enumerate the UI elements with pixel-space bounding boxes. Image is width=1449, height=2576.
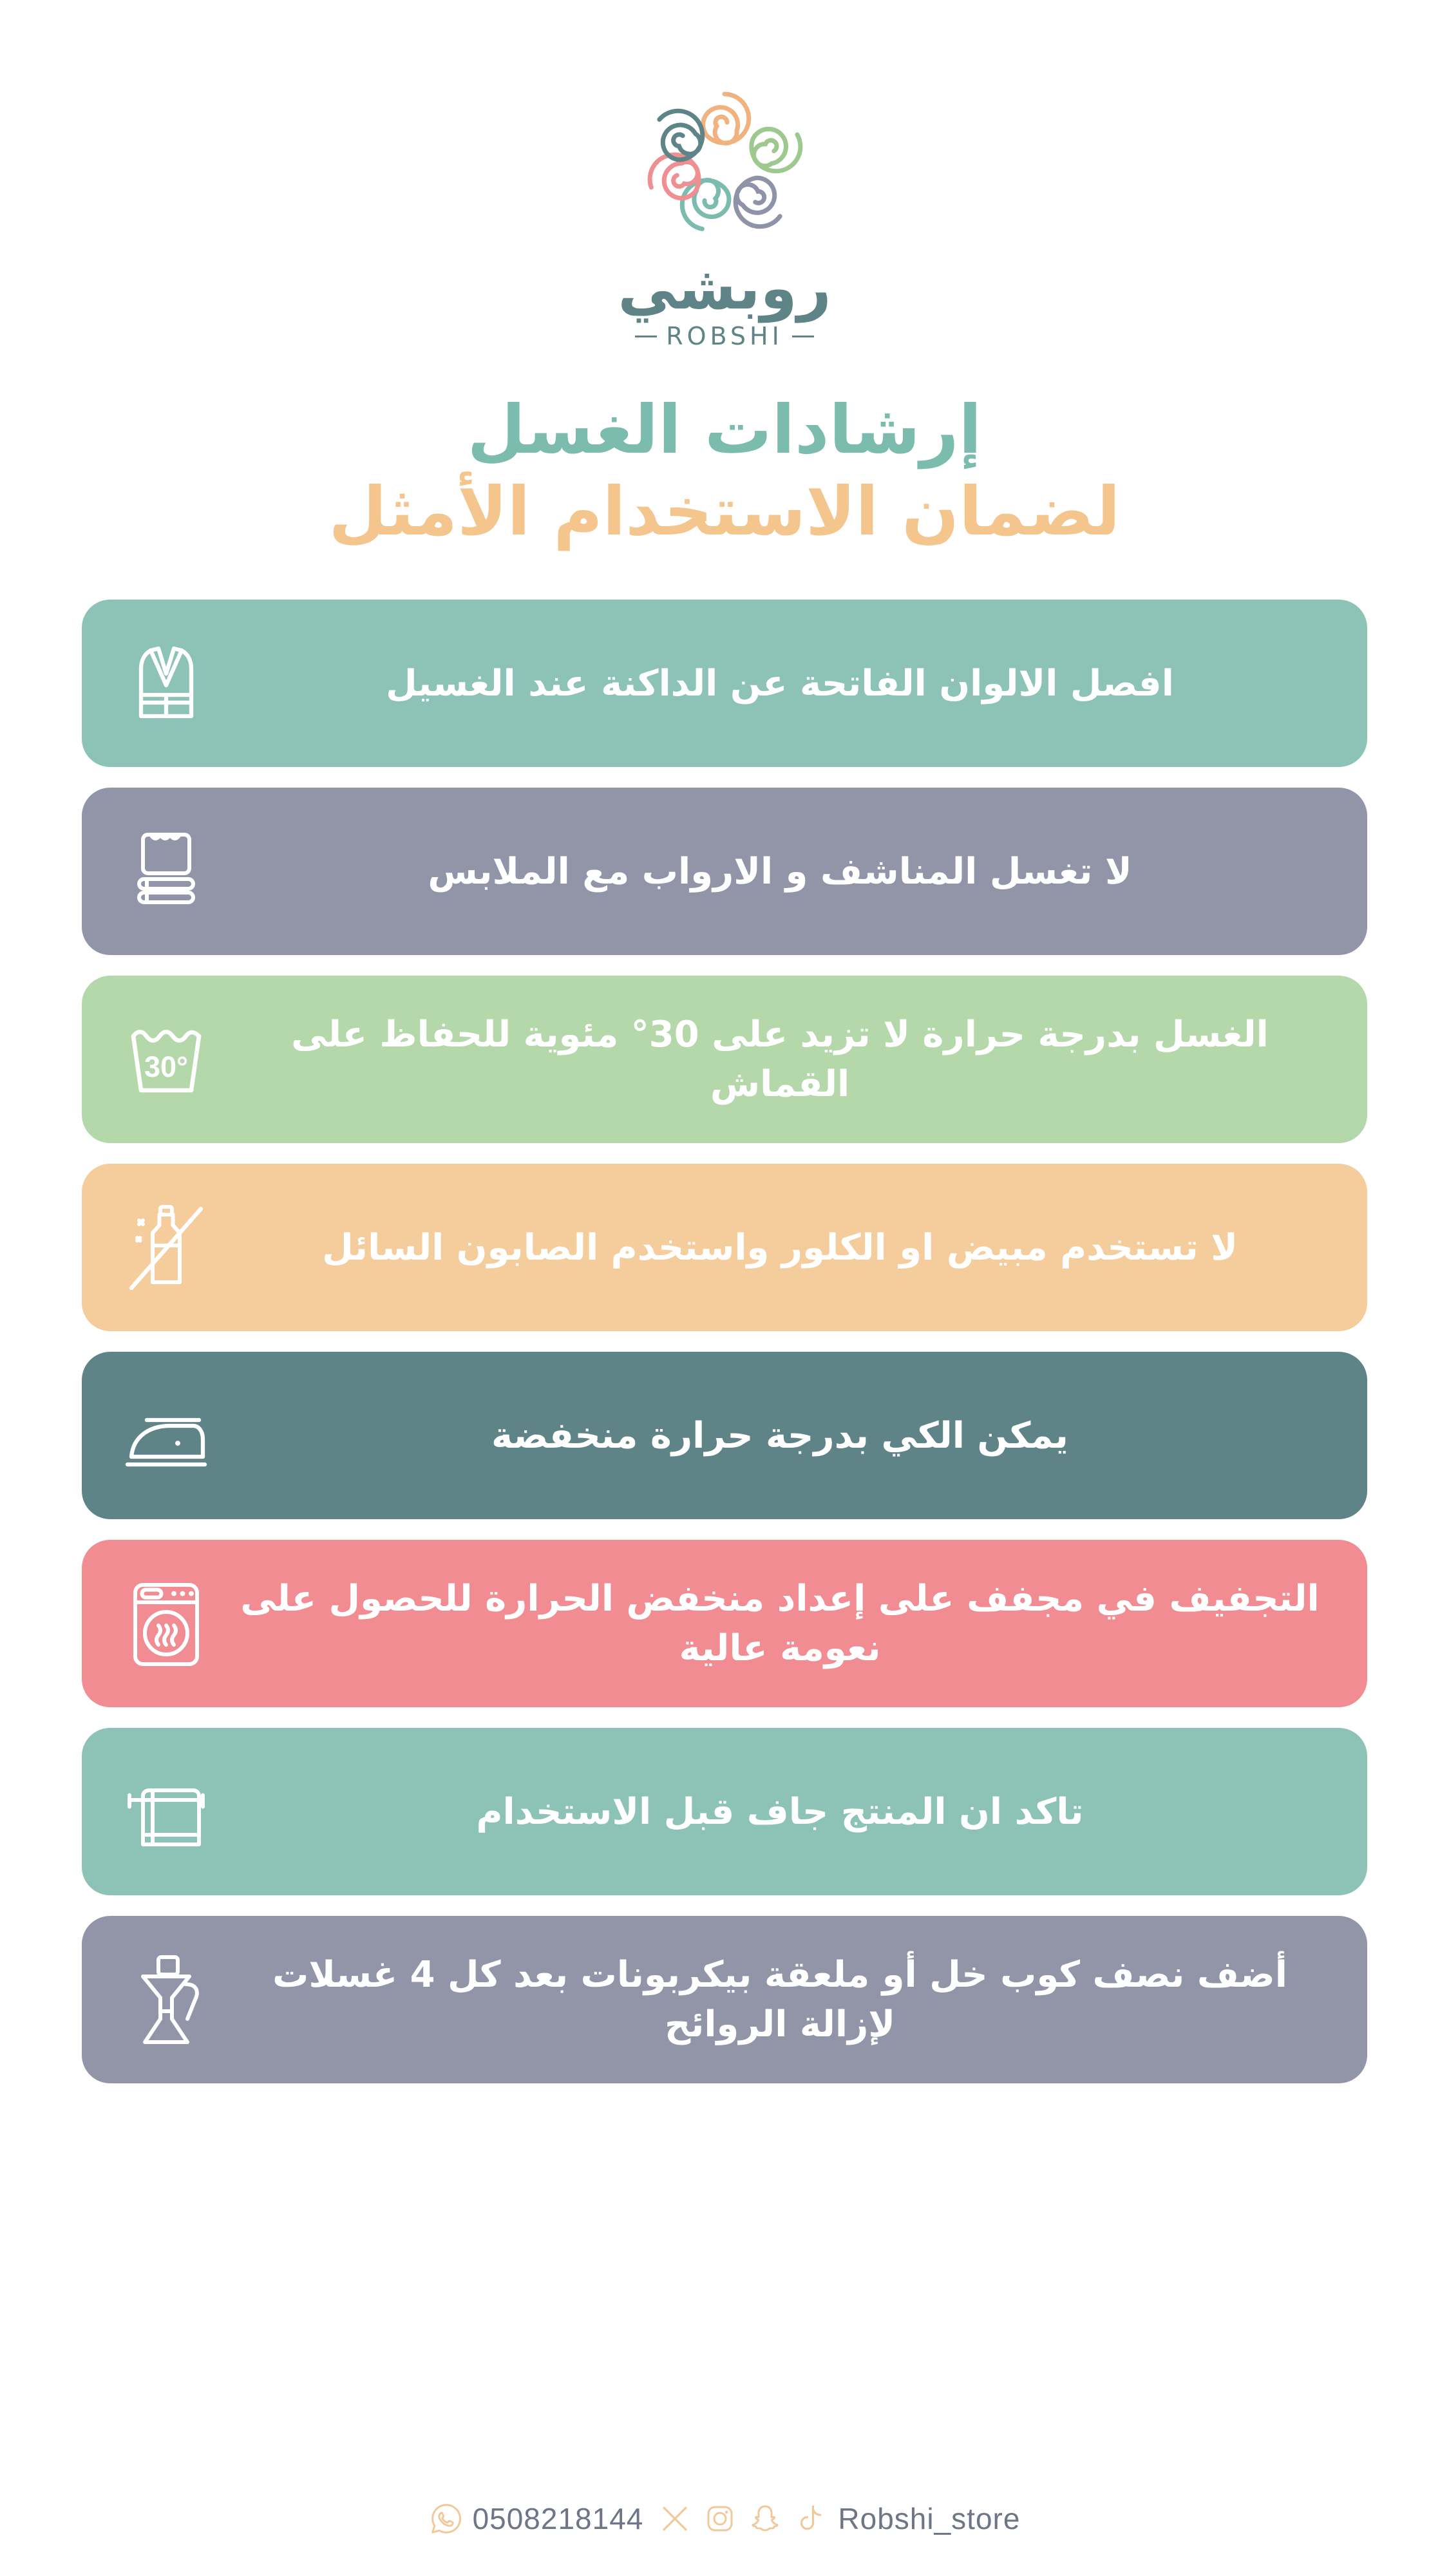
bathrobe-icon	[111, 629, 221, 738]
instruction-card: الغسل بدرجة حرارة لا تزيد على 30° مئوية …	[82, 976, 1367, 1143]
folded-towels-icon	[111, 817, 221, 926]
whatsapp-contact[interactable]: 0508218144	[429, 2501, 644, 2536]
wash-tub-30-icon: 30°	[111, 1005, 221, 1114]
instruction-text: الغسل بدرجة حرارة لا تزيد على 30° مئوية …	[221, 1010, 1339, 1110]
no-bleach-icon	[111, 1193, 221, 1302]
towel-rack-icon	[111, 1757, 221, 1866]
vinegar-flask-icon	[111, 1945, 221, 2054]
instruction-card: تاكد ان المنتج جاف قبل الاستخدام	[82, 1728, 1367, 1895]
logo-dash-right	[792, 336, 814, 337]
phone-number[interactable]: 0508218144	[473, 2501, 644, 2536]
iron-icon	[111, 1381, 221, 1490]
robshi-spiral-logo-icon	[621, 76, 828, 256]
whatsapp-icon[interactable]	[429, 2501, 464, 2536]
social-handle[interactable]: Robshi_store	[838, 2501, 1020, 2536]
instruction-text: التجفيف في مجفف على إعداد منخفض الحرارة …	[221, 1574, 1339, 1674]
instruction-text: لا تستخدم مبيض او الكلور واستخدم الصابون…	[221, 1223, 1339, 1273]
x-twitter-icon[interactable]	[658, 2501, 692, 2536]
infographic-page: روبشي ROBSHI إرشادات الغسل لضمان الاستخد…	[0, 0, 1449, 2576]
instruction-text: لا تغسل المناشف و الارواب مع الملابس	[221, 847, 1339, 896]
instruction-text: تاكد ان المنتج جاف قبل الاستخدام	[221, 1787, 1339, 1837]
social-icon-group: Robshi_store	[658, 2501, 1020, 2536]
page-title-line2: لضمان الاستخدام الأمثل	[329, 472, 1121, 551]
tumble-dryer-icon	[111, 1569, 221, 1678]
brand-name-latin-text: ROBSHI	[666, 322, 783, 350]
instagram-icon[interactable]	[703, 2501, 737, 2536]
instruction-card: يمكن الكي بدرجة حرارة منخفضة	[82, 1352, 1367, 1519]
tiktok-icon[interactable]	[793, 2501, 828, 2536]
brand-name-latin: ROBSHI	[635, 322, 814, 350]
instruction-text: أضف نصف كوب خل أو ملعقة بيكربونات بعد كل…	[221, 1950, 1339, 2050]
brand-logo-block: روبشي ROBSHI	[618, 76, 831, 350]
instruction-text: افصل الالوان الفاتحة عن الداكنة عند الغس…	[221, 659, 1339, 708]
page-title-line1: إرشادات الغسل	[329, 390, 1121, 469]
footer-contact-bar: 0508218144 Robshi_store	[429, 2501, 1021, 2536]
instruction-card: لا تستخدم مبيض او الكلور واستخدم الصابون…	[82, 1164, 1367, 1331]
instruction-card: أضف نصف كوب خل أو ملعقة بيكربونات بعد كل…	[82, 1916, 1367, 2083]
svg-text:30°: 30°	[144, 1050, 188, 1083]
snapchat-icon[interactable]	[748, 2501, 782, 2536]
instruction-card: افصل الالوان الفاتحة عن الداكنة عند الغس…	[82, 600, 1367, 767]
logo-dash-left	[635, 336, 657, 337]
instruction-card: لا تغسل المناشف و الارواب مع الملابس	[82, 788, 1367, 955]
brand-name-arabic: روبشي	[618, 259, 831, 318]
page-title: إرشادات الغسل لضمان الاستخدام الأمثل	[329, 390, 1121, 551]
instruction-card: التجفيف في مجفف على إعداد منخفض الحرارة …	[82, 1540, 1367, 1707]
instruction-card-list: افصل الالوان الفاتحة عن الداكنة عند الغس…	[82, 600, 1367, 2083]
instruction-text: يمكن الكي بدرجة حرارة منخفضة	[221, 1411, 1339, 1461]
